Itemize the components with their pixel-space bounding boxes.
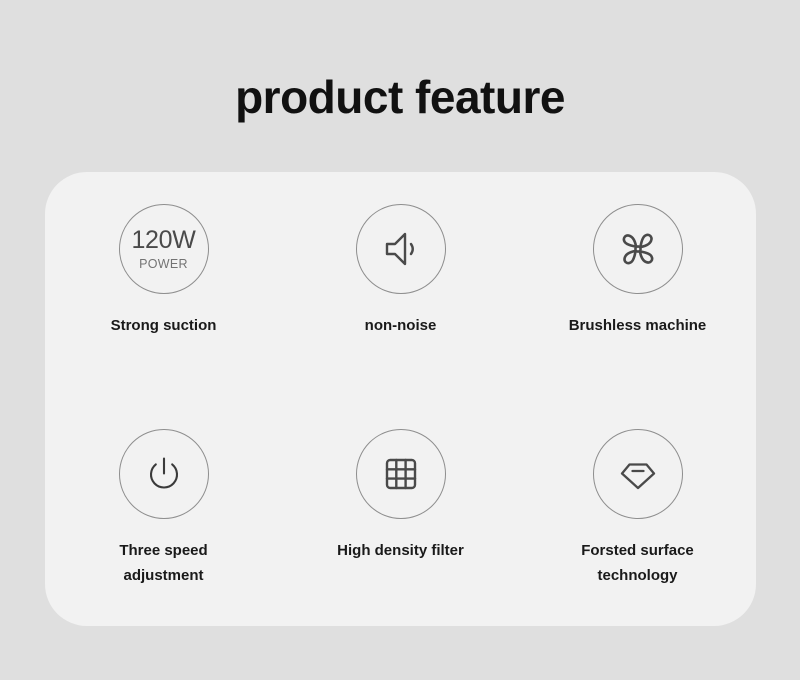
speaker-low-volume-icon-wrap — [356, 204, 446, 294]
power-wattage-icon: 120W POWER — [119, 204, 209, 294]
product-feature-page: product feature 120W POWER Strong suctio… — [0, 0, 800, 680]
feature-label: non-noise — [365, 314, 437, 339]
feature-item-frosted-surface-technology[interactable]: Forsted surface technology — [519, 399, 756, 626]
feature-item-strong-suction[interactable]: 120W POWER Strong suction — [45, 172, 282, 399]
feature-item-non-noise[interactable]: non-noise — [282, 172, 519, 399]
feature-label: Three speed adjustment — [79, 539, 249, 589]
feature-item-three-speed-adjustment[interactable]: Three speed adjustment — [45, 399, 282, 626]
power-button-icon-wrap — [119, 429, 209, 519]
diamond-gem-icon — [615, 451, 661, 497]
speaker-low-volume-icon — [378, 226, 424, 272]
feature-item-brushless-machine[interactable]: Brushless machine — [519, 172, 756, 399]
power-button-icon — [141, 451, 187, 497]
grid-filter-icon-wrap — [356, 429, 446, 519]
fan-blade-icon — [615, 226, 661, 272]
feature-label: Brushless machine — [569, 314, 707, 339]
feature-label: High density filter — [337, 539, 464, 564]
wattage-value: 120W — [131, 228, 195, 253]
feature-label: Forsted surface technology — [553, 539, 723, 589]
grid-filter-icon — [378, 451, 424, 497]
page-title: product feature — [0, 72, 800, 123]
fan-blade-icon-wrap — [593, 204, 683, 294]
feature-card: 120W POWER Strong suction non-noise — [45, 172, 756, 626]
feature-grid: 120W POWER Strong suction non-noise — [45, 172, 756, 626]
diamond-gem-icon-wrap — [593, 429, 683, 519]
feature-item-high-density-filter[interactable]: High density filter — [282, 399, 519, 626]
feature-label: Strong suction — [111, 314, 217, 339]
wattage-unit-label: POWER — [139, 258, 188, 271]
